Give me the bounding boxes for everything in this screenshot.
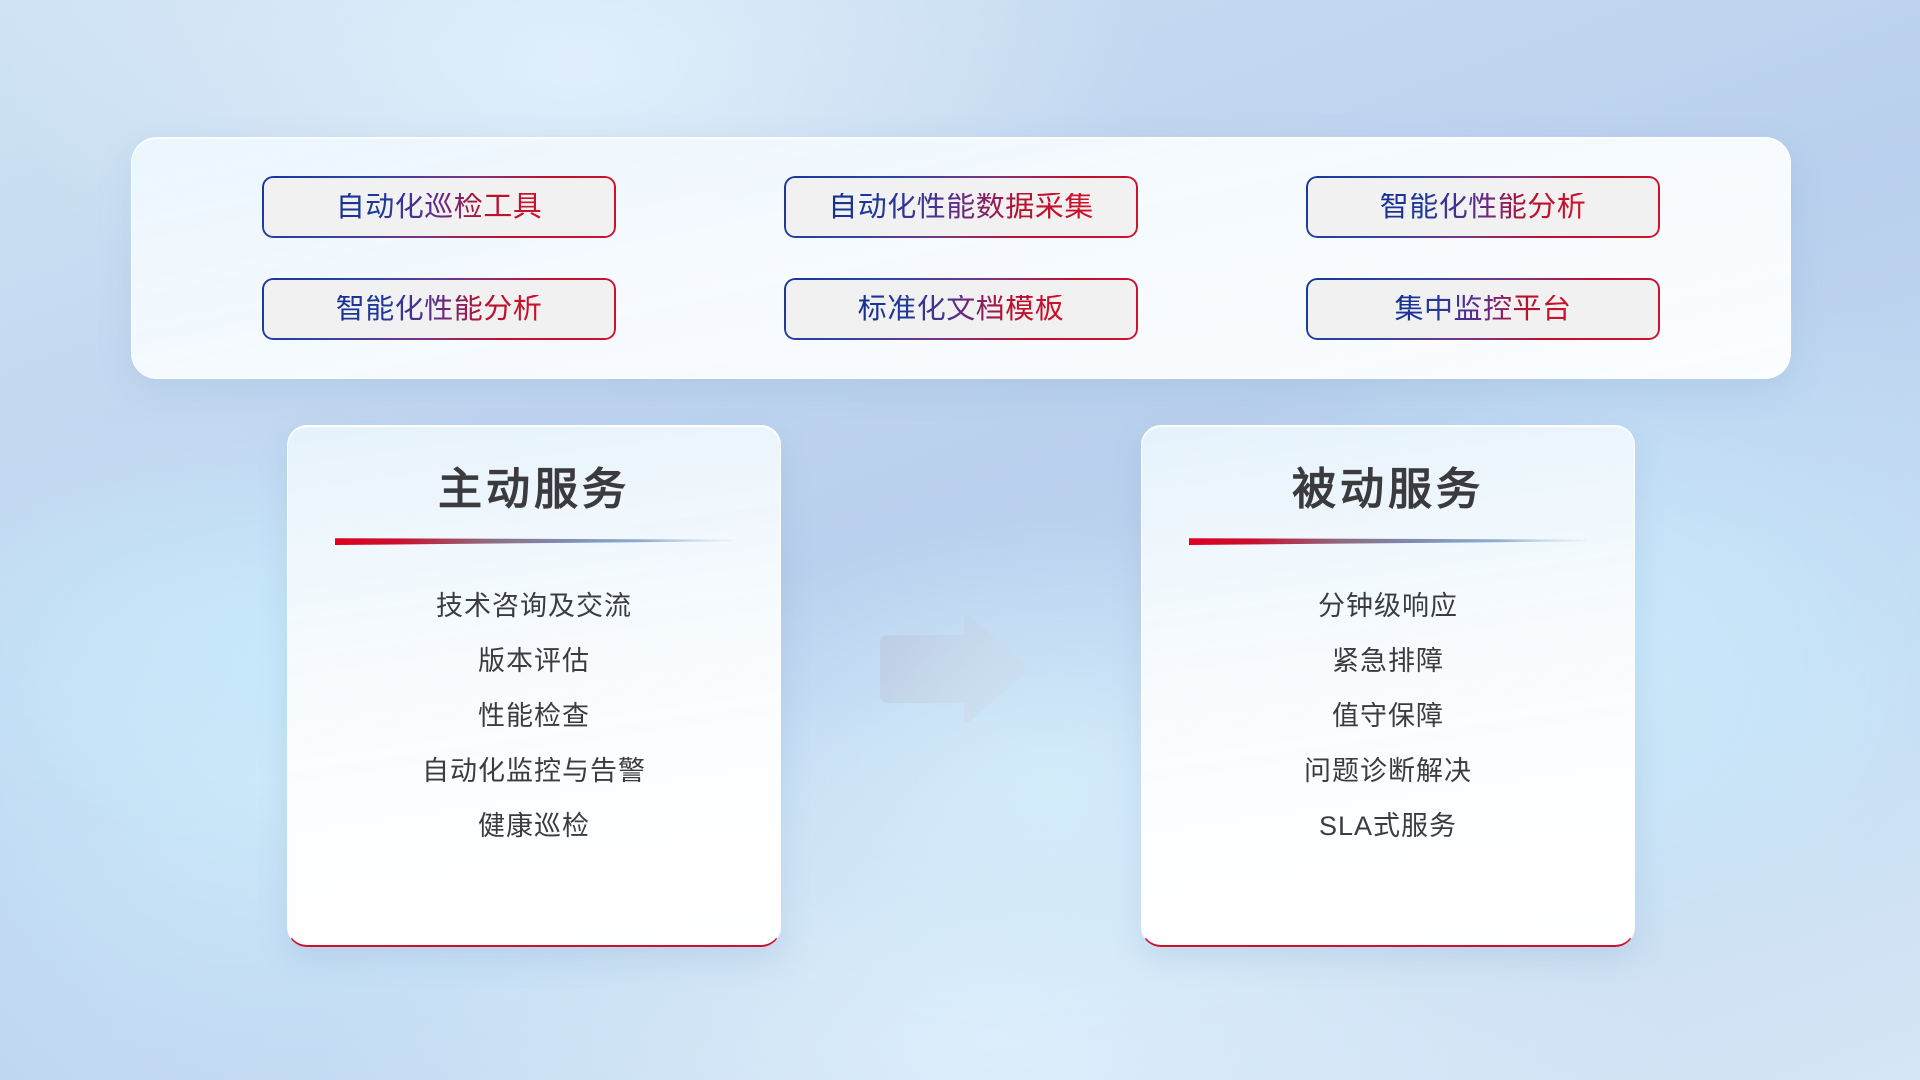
list-item: SLA式服务 xyxy=(1142,799,1634,854)
capability-chip-1[interactable]: 自动化巡检工具 xyxy=(262,176,616,238)
capability-chip-label: 自动化性能数据采集 xyxy=(828,193,1094,222)
capability-panel: 自动化巡检工具 自动化性能数据采集 智能化性能分析 智能化性能分析 标准化文档模… xyxy=(131,137,1791,379)
card-title: 被动服务 xyxy=(1142,466,1634,514)
list-item: 分钟级响应 xyxy=(1142,579,1634,634)
list-item: 值守保障 xyxy=(1142,689,1634,744)
card-divider xyxy=(1189,536,1587,545)
list-item: 健康巡检 xyxy=(288,799,780,854)
card-divider xyxy=(335,536,733,545)
list-item: 紧急排障 xyxy=(1142,634,1634,689)
arrow-right-icon xyxy=(872,613,1030,725)
service-card-proactive: 主动服务 技术咨询及交流 版本评估 性能检查 xyxy=(287,425,781,947)
list-item: 技术咨询及交流 xyxy=(288,579,780,634)
list-item: 性能检查 xyxy=(288,689,780,744)
capability-chip-label: 集中监控平台 xyxy=(1394,295,1571,324)
list-item: 版本评估 xyxy=(288,634,780,689)
capability-chip-4[interactable]: 智能化性能分析 xyxy=(262,278,616,340)
capability-chip-label: 标准化文档模板 xyxy=(858,295,1065,324)
service-item-list: 分钟级响应 紧急排障 值守保障 问题诊断解决 SLA式服务 xyxy=(1142,579,1634,854)
capability-chip-label: 智能化性能分析 xyxy=(1380,193,1587,222)
capability-chip-5[interactable]: 标准化文档模板 xyxy=(784,278,1138,340)
list-item: 自动化监控与告警 xyxy=(288,744,780,799)
capability-chip-2[interactable]: 自动化性能数据采集 xyxy=(784,176,1138,238)
capability-chip-6[interactable]: 集中监控平台 xyxy=(1306,278,1660,340)
capability-chip-label: 自动化巡检工具 xyxy=(336,193,543,222)
service-item-list: 技术咨询及交流 版本评估 性能检查 自动化监控与告警 健康巡检 xyxy=(288,579,780,854)
card-title: 主动服务 xyxy=(288,466,780,514)
capability-chip-3[interactable]: 智能化性能分析 xyxy=(1306,176,1660,238)
list-item: 问题诊断解决 xyxy=(1142,744,1634,799)
capability-chip-label: 智能化性能分析 xyxy=(336,295,543,324)
service-card-reactive: 被动服务 分钟级响应 紧急排障 值守保障 xyxy=(1141,425,1635,947)
infographic-stage: 自动化巡检工具 自动化性能数据采集 智能化性能分析 智能化性能分析 标准化文档模… xyxy=(0,0,1920,1080)
